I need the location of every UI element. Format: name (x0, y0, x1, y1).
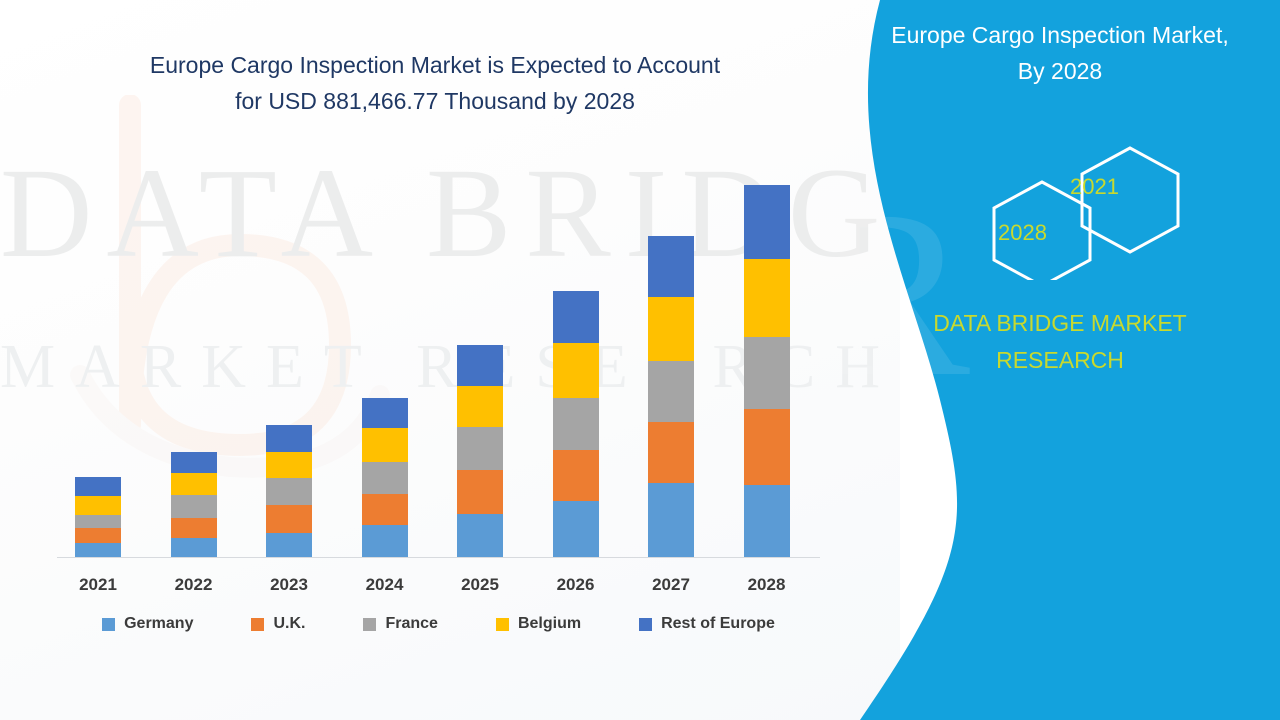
bar-segment-germany[interactable] (266, 533, 312, 557)
legend-item-france[interactable]: France (363, 615, 437, 633)
chart-title-line-2: for USD 881,466.77 Thousand by 2028 (40, 84, 830, 120)
bar-segment-u-k[interactable] (457, 470, 503, 514)
legend-swatch-icon (639, 618, 652, 631)
bar-segment-france[interactable] (648, 361, 694, 422)
x-axis-label-2027: 2027 (636, 575, 706, 595)
legend-item-germany[interactable]: Germany (102, 615, 193, 633)
brand-name-line-2: RESEARCH (860, 342, 1260, 379)
chart-legend: GermanyU.K.FranceBelgiumRest of Europe (57, 615, 820, 633)
bar-segment-rest-of-europe[interactable] (457, 345, 503, 386)
bar-segment-france[interactable] (75, 515, 121, 528)
bar-segment-rest-of-europe[interactable] (362, 398, 408, 428)
bar-stack (362, 398, 408, 557)
x-axis-label-2021: 2021 (63, 575, 133, 595)
hexagon-label-2028: 2028 (998, 220, 1047, 246)
x-axis-label-2023: 2023 (254, 575, 324, 595)
bar-segment-france[interactable] (362, 462, 408, 494)
hexagon-outlines-icon (970, 140, 1220, 280)
bar-segment-rest-of-europe[interactable] (266, 425, 312, 452)
bar-segment-rest-of-europe[interactable] (648, 236, 694, 297)
bar-segment-u-k[interactable] (648, 422, 694, 483)
bar-segment-u-k[interactable] (266, 505, 312, 533)
bar-segment-u-k[interactable] (362, 494, 408, 525)
bar-segment-belgium[interactable] (266, 452, 312, 478)
legend-swatch-icon (251, 618, 264, 631)
bar-segment-rest-of-europe[interactable] (744, 185, 790, 259)
brand-title-line-2: By 2028 (860, 54, 1260, 90)
bar-stack (744, 185, 790, 557)
bar-segment-france[interactable] (171, 495, 217, 518)
bar-stack (553, 291, 599, 557)
x-axis-label-2022: 2022 (159, 575, 229, 595)
bar-segment-germany[interactable] (744, 485, 790, 557)
bar-segment-rest-of-europe[interactable] (171, 452, 217, 473)
chart-title-line-1: Europe Cargo Inspection Market is Expect… (40, 48, 830, 84)
bar-stack (75, 477, 121, 557)
bar-segment-belgium[interactable] (75, 496, 121, 515)
legend-item-belgium[interactable]: Belgium (496, 615, 581, 633)
legend-item-u-k[interactable]: U.K. (251, 615, 305, 633)
x-axis-label-2025: 2025 (445, 575, 515, 595)
legend-item-rest-of-europe[interactable]: Rest of Europe (639, 615, 775, 633)
legend-label: Germany (124, 615, 193, 633)
bar-segment-rest-of-europe[interactable] (553, 291, 599, 343)
brand-panel: R Europe Cargo Inspection Market, By 202… (840, 0, 1280, 720)
bar-segment-france[interactable] (744, 337, 790, 409)
brand-name: DATA BRIDGE MARKET RESEARCH (860, 305, 1260, 379)
bar-segment-belgium[interactable] (457, 386, 503, 427)
bar-segment-belgium[interactable] (648, 297, 694, 361)
bar-segment-u-k[interactable] (171, 518, 217, 538)
bar-segment-belgium[interactable] (362, 428, 408, 462)
bar-segment-u-k[interactable] (553, 450, 599, 501)
bar-segment-germany[interactable] (362, 525, 408, 557)
bar-segment-rest-of-europe[interactable] (75, 477, 121, 496)
bar-stack (648, 236, 694, 557)
bar-segment-france[interactable] (457, 427, 503, 470)
hexagon-label-2021: 2021 (1070, 174, 1119, 200)
bar-segment-france[interactable] (553, 398, 599, 450)
hexagon-badges: 2021 2028 (970, 140, 1220, 280)
x-axis-line (57, 557, 820, 558)
bar-stack (171, 452, 217, 557)
brand-title-line-1: Europe Cargo Inspection Market, (860, 18, 1260, 54)
bar-segment-germany[interactable] (75, 543, 121, 557)
bar-segment-germany[interactable] (171, 538, 217, 557)
chart-title: Europe Cargo Inspection Market is Expect… (40, 48, 830, 119)
brand-name-line-1: DATA BRIDGE MARKET (860, 305, 1260, 342)
legend-swatch-icon (496, 618, 509, 631)
bar-segment-u-k[interactable] (744, 409, 790, 485)
bar-segment-belgium[interactable] (553, 343, 599, 398)
bar-segment-germany[interactable] (648, 483, 694, 557)
legend-swatch-icon (363, 618, 376, 631)
bar-segment-belgium[interactable] (744, 259, 790, 337)
legend-label: Rest of Europe (661, 615, 775, 633)
bar-segment-belgium[interactable] (171, 473, 217, 495)
bar-segment-germany[interactable] (457, 514, 503, 557)
legend-swatch-icon (102, 618, 115, 631)
legend-label: France (385, 615, 437, 633)
x-axis-label-2026: 2026 (541, 575, 611, 595)
bar-segment-france[interactable] (266, 478, 312, 505)
bar-segment-u-k[interactable] (75, 528, 121, 543)
legend-label: Belgium (518, 615, 581, 633)
brand-panel-title: Europe Cargo Inspection Market, By 2028 (860, 18, 1260, 89)
x-axis-label-2028: 2028 (732, 575, 802, 595)
bar-stack (266, 425, 312, 557)
chart-panel: DATA BRIDGE MARKET RESEARCH Europe Cargo… (0, 0, 900, 720)
bar-stack (457, 345, 503, 557)
x-axis-label-2024: 2024 (350, 575, 420, 595)
bar-segment-germany[interactable] (553, 501, 599, 557)
legend-label: U.K. (273, 615, 305, 633)
